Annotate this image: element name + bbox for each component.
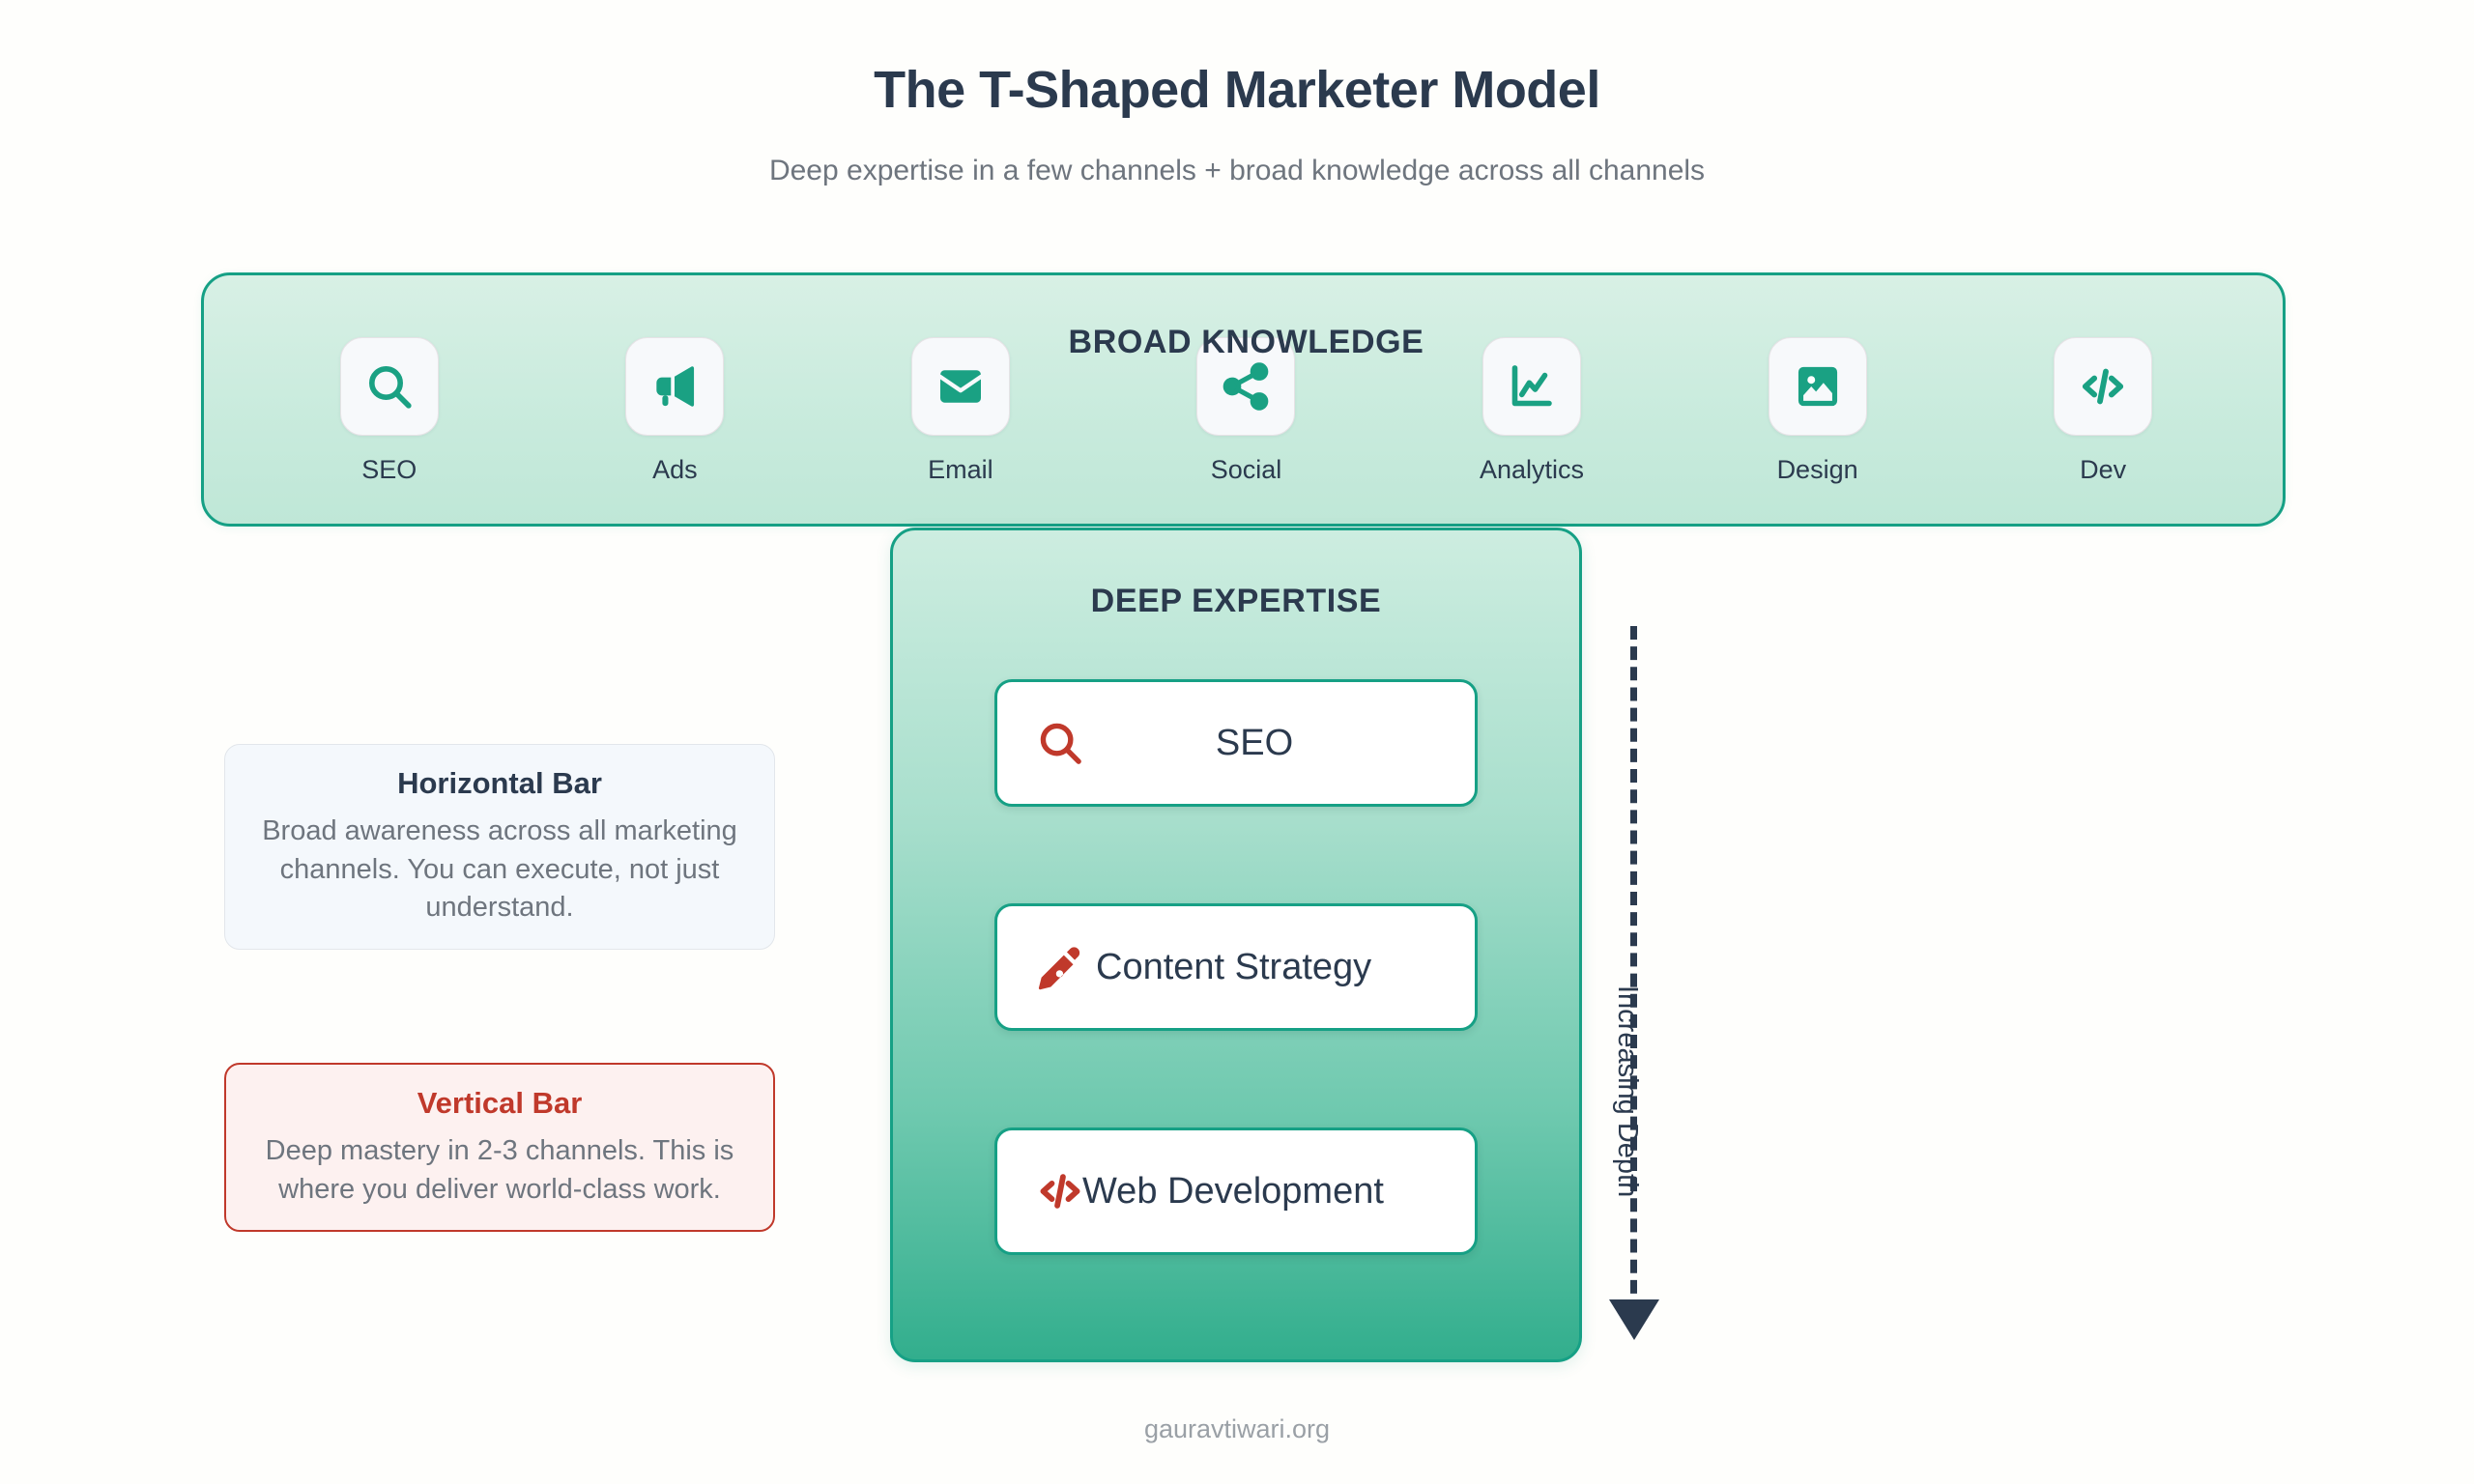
deep-card-label: SEO bbox=[1102, 723, 1475, 764]
page-title: The T-Shaped Marketer Model bbox=[0, 60, 2474, 120]
deep-expertise-title: DEEP EXPERTISE bbox=[893, 583, 1579, 620]
broad-item-label: Social bbox=[1211, 455, 1282, 485]
deep-card-content-strategy[interactable]: Content Strategy bbox=[994, 903, 1478, 1031]
broad-item-label: Design bbox=[1777, 455, 1858, 485]
page-subtitle: Deep expertise in a few channels + broad… bbox=[0, 155, 2474, 187]
deep-card-label: Content Strategy bbox=[1096, 947, 1475, 988]
legend-body: Broad awareness across all marketing cha… bbox=[258, 813, 741, 927]
legend-title: Horizontal Bar bbox=[258, 766, 741, 801]
broad-item-label: Analytics bbox=[1480, 455, 1584, 485]
search-icon bbox=[1019, 717, 1102, 769]
legend-vertical-bar: Vertical Bar Deep mastery in 2-3 channel… bbox=[224, 1063, 775, 1232]
legend-body: Deep mastery in 2-3 channels. This is wh… bbox=[259, 1132, 740, 1209]
legend-title: Vertical Bar bbox=[259, 1086, 740, 1121]
footer-attribution: gauravtiwari.org bbox=[0, 1414, 2474, 1444]
broad-knowledge-item-list: SEO Ads E bbox=[204, 275, 2288, 529]
broad-knowledge-bar: SEO Ads E bbox=[201, 272, 2286, 527]
diagram-canvas: The T-Shaped Marketer Model Deep experti… bbox=[0, 0, 2474, 1484]
deep-expertise-bar: DEEP EXPERTISE SEO Content Strategy bbox=[890, 528, 1582, 1362]
broad-item-label: Dev bbox=[2080, 455, 2126, 485]
pen-nib-icon bbox=[1019, 941, 1102, 993]
increasing-depth-arrowhead bbox=[1609, 1299, 1659, 1340]
increasing-depth-label: Increasing Depth bbox=[1611, 985, 1643, 1197]
legend-horizontal-bar: Horizontal Bar Broad awareness across al… bbox=[224, 744, 775, 950]
broad-item-label: Ads bbox=[652, 455, 698, 485]
deep-card-web-development[interactable]: Web Development bbox=[994, 1127, 1478, 1255]
deep-card-seo[interactable]: SEO bbox=[994, 679, 1478, 807]
increasing-depth-dashed-line bbox=[1630, 626, 1637, 1314]
deep-card-label: Web Development bbox=[1082, 1171, 1475, 1213]
broad-item-label: SEO bbox=[361, 455, 417, 485]
broad-item-label: Email bbox=[928, 455, 993, 485]
broad-knowledge-title: BROAD KNOWLEDGE bbox=[204, 324, 2288, 361]
